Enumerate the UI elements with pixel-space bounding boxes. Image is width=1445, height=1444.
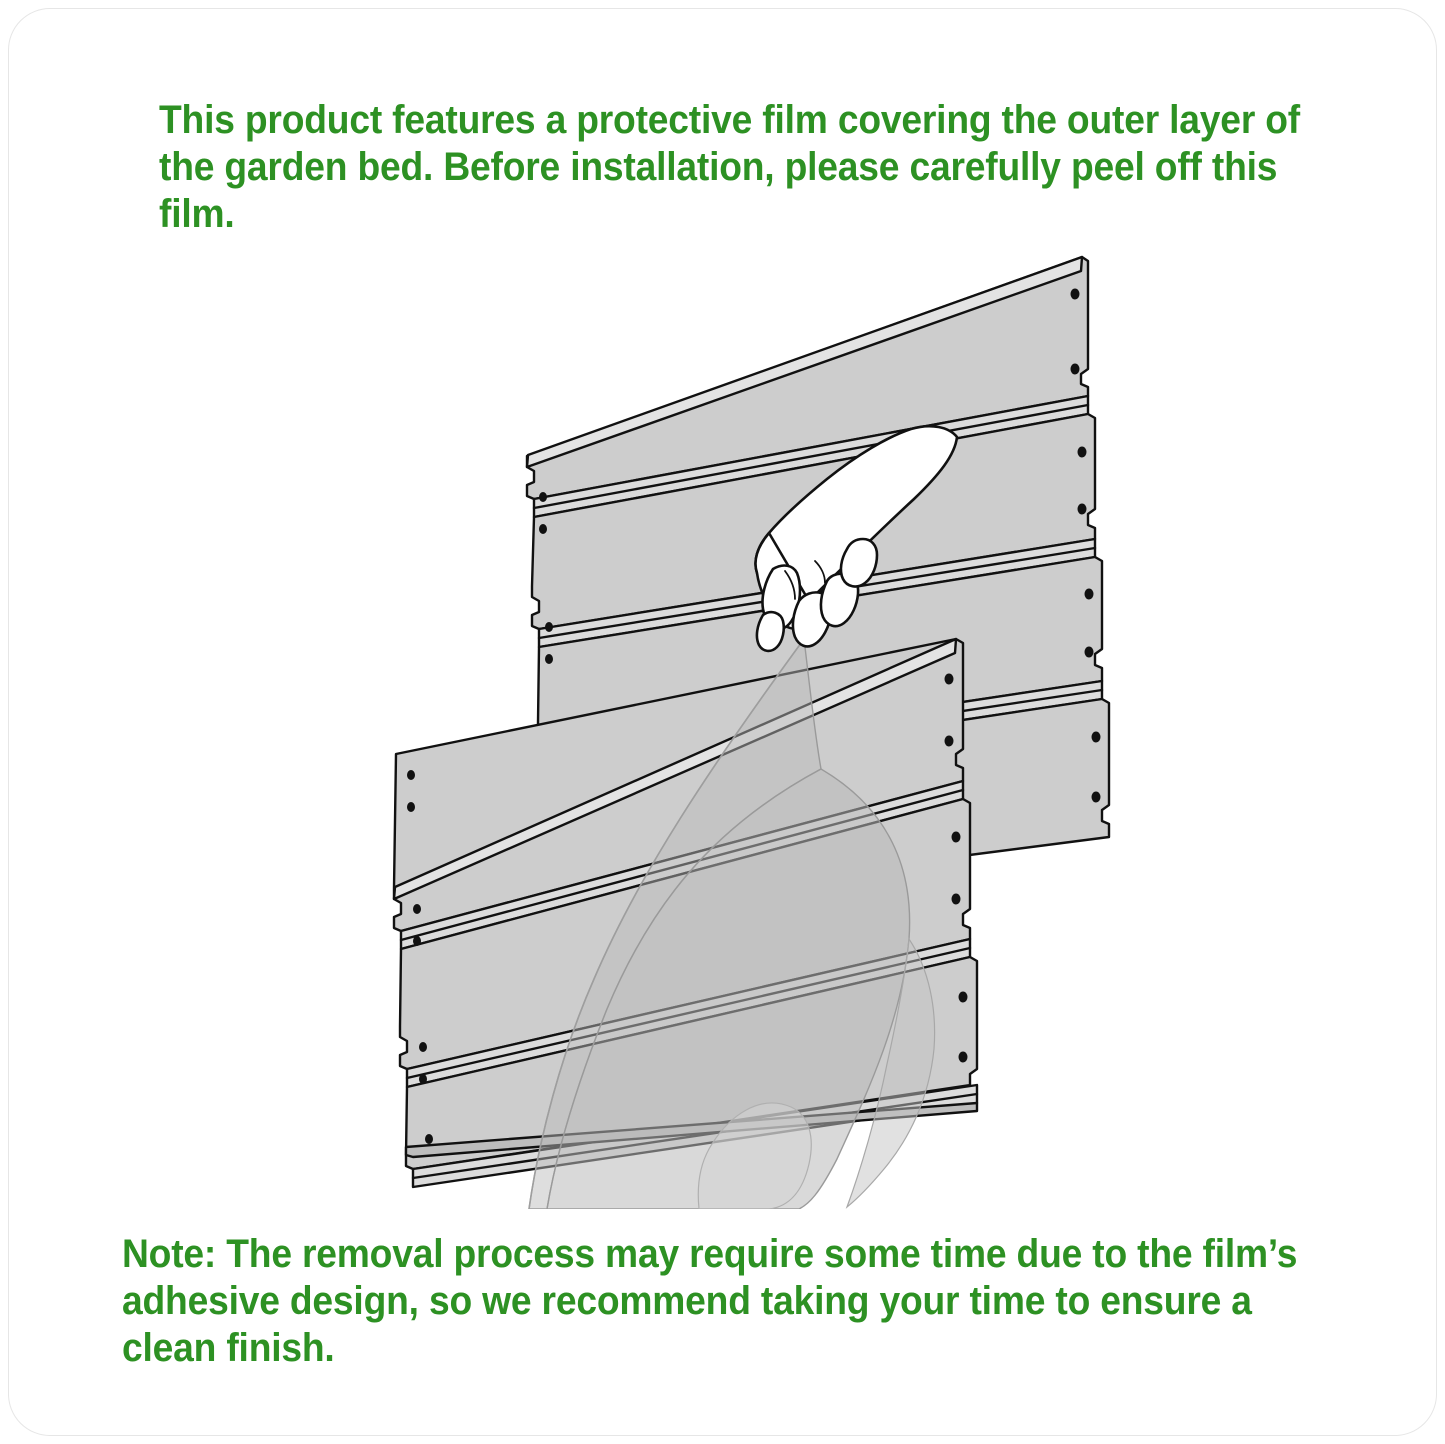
- instruction-card: This product features a protective film …: [8, 8, 1437, 1436]
- peel-film-illustration: [9, 209, 1437, 1209]
- hand-pinch-tip: [757, 612, 784, 651]
- bottom-note-text: Note: The removal process may require so…: [122, 1231, 1350, 1371]
- illustration-svg: [9, 209, 1437, 1209]
